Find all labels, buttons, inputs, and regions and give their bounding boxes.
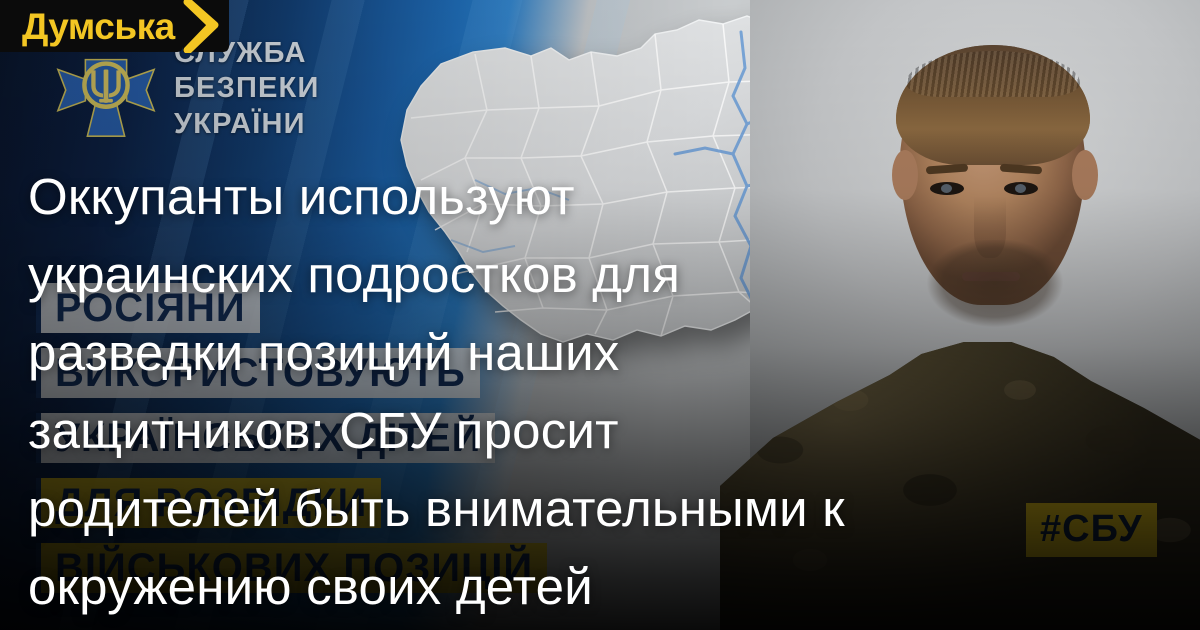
sbu-name-line-3: УКРАЇНИ (174, 107, 320, 142)
ear-right (1072, 150, 1098, 200)
headline-line-5: родителей быть внимательными к (28, 470, 968, 548)
news-share-card: РОСІЯНИ ВИКОРИСТОВУЮТЬ УКРАЇНСЬКИХ ДІТЕЙ… (0, 0, 1200, 630)
eye-right (1004, 182, 1038, 195)
dumska-watermark-logo[interactable]: Думська (0, 0, 229, 52)
sbu-emblem-icon (52, 40, 160, 148)
chevron-right-icon (183, 0, 229, 52)
sbu-hashtag-badge: #СБУ (1026, 503, 1157, 557)
hair-top (896, 45, 1090, 165)
headline-line-4: защитников: СБУ просит (28, 392, 968, 470)
headline-line-3: разведки позиций наших (28, 314, 968, 392)
page-title: Оккупанты используют украинских подростк… (28, 158, 968, 626)
headline-line-6: окружению своих детей (28, 548, 968, 626)
headline-line-1: Оккупанты используют (28, 158, 968, 236)
headline-line-2: украинских подростков для (28, 236, 968, 314)
sbu-name-line-2: БЕЗПЕКИ (174, 71, 320, 106)
dumska-logo-plate: Думська (0, 0, 183, 52)
dumska-wordmark: Думська (22, 8, 175, 45)
